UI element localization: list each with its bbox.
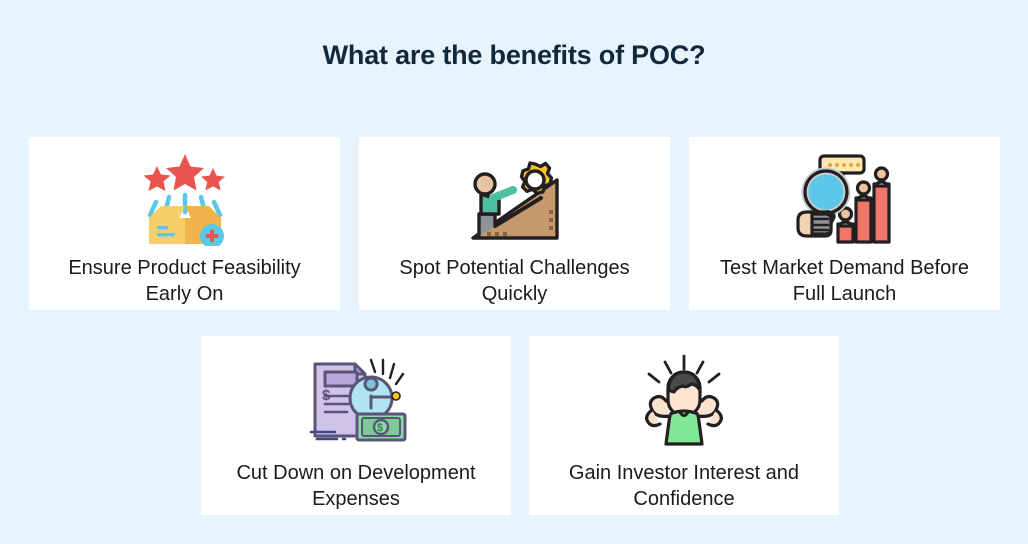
benefit-card-label: Test Market Demand Before Full Launch bbox=[711, 255, 979, 307]
benefit-card-ensure-product-feasibility[interactable]: Ensure Product Feasibility Early On bbox=[29, 137, 340, 310]
svg-text:$: $ bbox=[377, 422, 383, 434]
benefit-card-test-market-demand[interactable]: Test Market Demand Before Full Launch bbox=[689, 137, 1000, 310]
benefit-card-label: Gain Investor Interest and Confidence bbox=[550, 460, 818, 512]
benefit-card-label: Spot Potential Challenges Quickly bbox=[381, 255, 649, 307]
benefit-card-label: Ensure Product Feasibility Early On bbox=[51, 255, 319, 307]
open-box-with-stars-icon bbox=[130, 148, 240, 248]
benefit-card-spot-potential-challenges[interactable]: Spot Potential Challenges Quickly bbox=[359, 137, 670, 310]
benefit-card-gain-investor-interest[interactable]: Gain Investor Interest and Confidence bbox=[529, 336, 839, 515]
svg-text:$: $ bbox=[322, 387, 331, 404]
page-title: What are the benefits of POC? bbox=[0, 40, 1028, 71]
invoice-lightbulb-money-icon: $ $ bbox=[301, 350, 411, 450]
benefit-card-label: Cut Down on Development Expenses bbox=[222, 460, 490, 512]
flexing-person-icon bbox=[629, 350, 739, 450]
benefit-card-cut-down-development-expenses[interactable]: $ $ Cut Down on Development Expenses bbox=[201, 336, 511, 515]
person-pushing-gear-uphill-icon bbox=[460, 148, 570, 248]
benefits-infographic: What are the benefits of POC? bbox=[0, 0, 1028, 544]
magnifier-bar-chart-people-icon bbox=[790, 148, 900, 248]
